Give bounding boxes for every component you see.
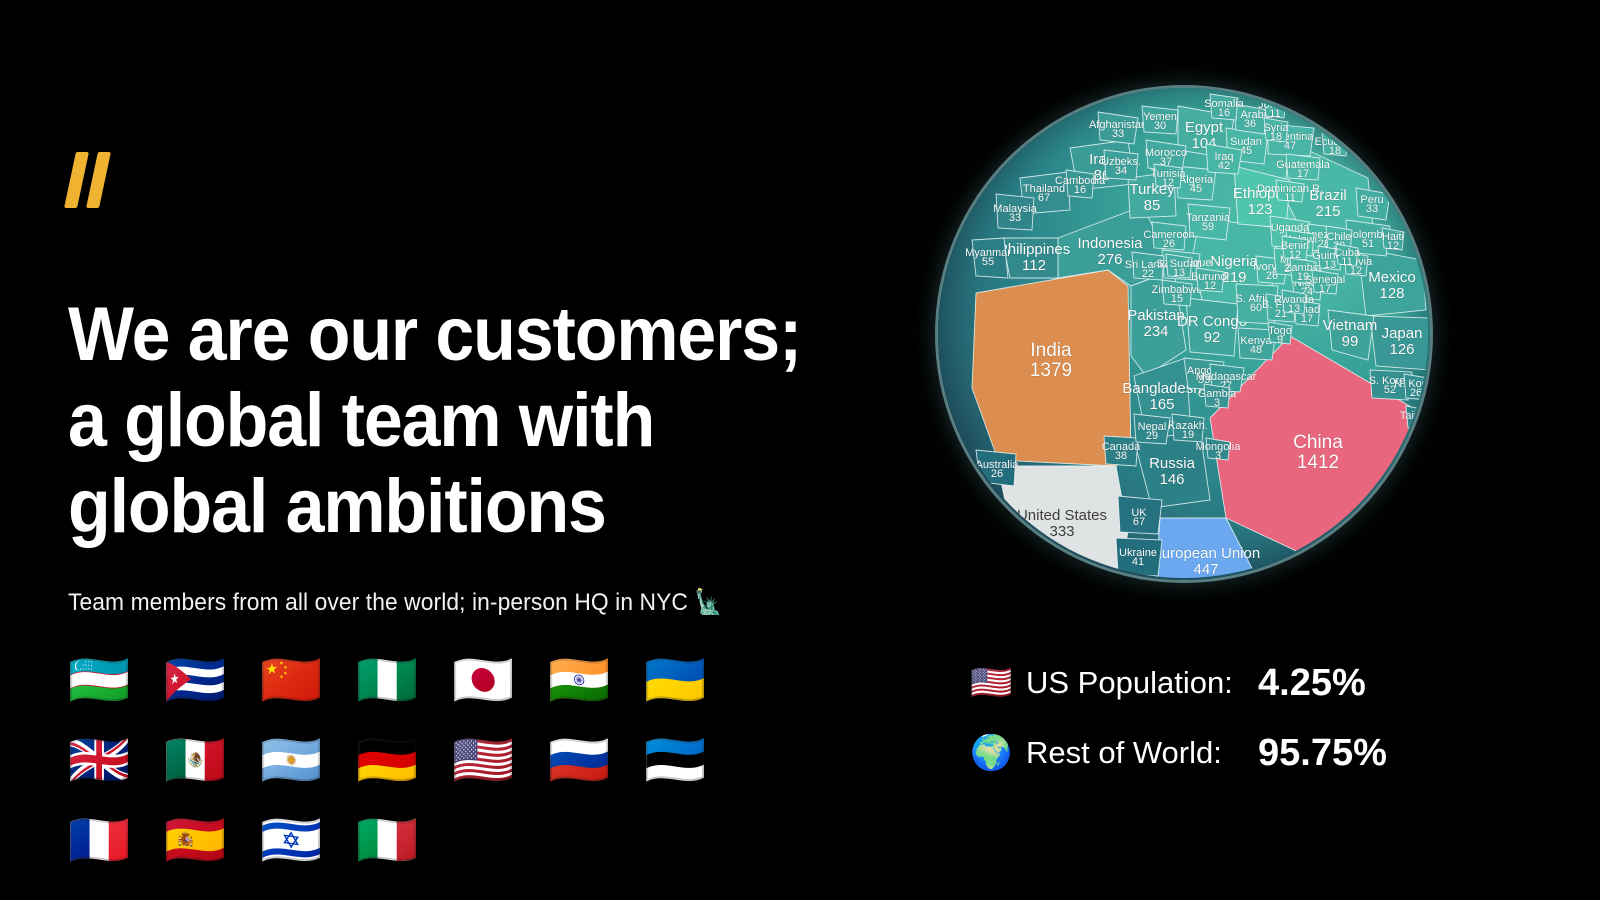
flag-spain-icon: 🇪🇸: [164, 800, 260, 880]
treemap-value-united-states: 333: [1049, 523, 1074, 540]
treemap-label-united-states: United States: [1017, 507, 1107, 524]
treemap-value-s-africa: 60: [1250, 302, 1262, 314]
flag-uzbekistan-icon: 🇺🇿: [68, 640, 164, 720]
rest-of-world-label: Rest of World:: [1026, 735, 1240, 771]
treemap-value-indonesia: 276: [1097, 251, 1122, 268]
treemap-value-china: 1412: [1297, 452, 1339, 473]
treemap-value-afghanistan: 33: [1112, 128, 1124, 140]
treemap-value-jordan: 11: [1269, 108, 1280, 120]
treemap-value-dr-congo: 92: [1204, 329, 1221, 346]
treemap-label-indonesia: Indonesia: [1077, 235, 1143, 252]
treemap-value-ecuador: 18: [1329, 145, 1341, 157]
treemap-value-guatemala: 17: [1297, 168, 1309, 180]
flag-israel-icon: 🇮🇱: [260, 800, 356, 880]
treemap-value-iraq: 42: [1218, 160, 1230, 172]
us-population-value: 4.25%: [1258, 662, 1366, 705]
treemap-value-bangladesh: 165: [1149, 396, 1174, 413]
stat-row-us-population: 🇺🇸 US Population: 4.25%: [970, 648, 1590, 718]
team-flag-grid: 🇺🇿 🇨🇺 🇨🇳 🇳🇬 🇯🇵 🇮🇳 🇺🇦 🇬🇧 🇲🇽 🇦🇷 🇩🇪 🇺🇸 🇷🇺 🇪…: [68, 640, 828, 880]
treemap-label-taiwan: Taiwan: [1400, 410, 1430, 422]
treemap-label-russia: Russia: [1149, 455, 1196, 472]
treemap-value-senegal: 17: [1319, 283, 1331, 295]
flag-cuba-icon: 🇨🇺: [164, 640, 260, 720]
treemap-value-russia: 146: [1159, 471, 1184, 488]
treemap-value-kazakh: 19: [1182, 429, 1194, 441]
treemap-value-cameroon: 26: [1163, 238, 1175, 250]
treemap-label-european-union: European Union: [1152, 545, 1260, 562]
flag-italy-icon: 🇮🇹: [356, 800, 452, 880]
flag-argentina-icon: 🇦🇷: [260, 720, 356, 800]
flag-row-1: 🇺🇿 🇨🇺 🇨🇳 🇳🇬 🇯🇵 🇮🇳 🇺🇦: [68, 640, 828, 720]
flag-china-icon: 🇨🇳: [260, 640, 356, 720]
treemap-value-tanzania: 59: [1202, 221, 1214, 233]
treemap-label-nigeria: Nigeria: [1210, 253, 1258, 270]
treemap-label-japan: Japan: [1382, 325, 1423, 342]
treemap-value-peru: 33: [1366, 203, 1378, 215]
us-population-label: US Population:: [1026, 665, 1240, 701]
treemap-value-algeria: 45: [1190, 183, 1202, 195]
treemap-value-thailand: 67: [1038, 192, 1050, 204]
slide-root: We are our customers; a global team with…: [0, 0, 1600, 900]
flag-united-kingdom-icon: 🇬🇧: [68, 720, 164, 800]
treemap-value-tunisia: 12: [1162, 177, 1174, 189]
treemap-value-uk: 67: [1133, 516, 1145, 528]
treemap-value-vietnam: 99: [1342, 333, 1359, 350]
flag-india-icon: 🇮🇳: [548, 640, 644, 720]
treemap-value-ukraine: 41: [1132, 556, 1144, 568]
treemap-value-turkey: 85: [1144, 197, 1161, 214]
treemap-value-somalia: 16: [1218, 107, 1230, 119]
flag-mexico-icon: 🇲🇽: [164, 720, 260, 800]
globe-icon: 🌍: [970, 736, 1026, 770]
treemap-value-india: 1379: [1030, 360, 1072, 381]
treemap-value-n-korea: 26: [1410, 387, 1422, 399]
flag-united-states-icon: 🇺🇸: [452, 720, 548, 800]
treemap-value-burundi: 12: [1204, 280, 1216, 292]
treemap-value-nepal: 29: [1146, 430, 1158, 442]
flag-russia-icon: 🇷🇺: [548, 720, 644, 800]
treemap-label-vietnam: Vietnam: [1323, 317, 1378, 334]
right-content-column: India1379China1412European Union447Unite…: [900, 0, 1600, 900]
treemap-value-zimbabwe: 15: [1171, 293, 1183, 305]
treemap-value-rwanda: 13: [1288, 303, 1300, 315]
treemap-value-cambodia: 16: [1074, 184, 1086, 196]
treemap-label-mexico: Mexico: [1368, 269, 1416, 286]
flag-united-states-icon: 🇺🇸: [970, 666, 1026, 700]
page-title: We are our customers; a global team with…: [68, 292, 822, 550]
flag-japan-icon: 🇯🇵: [452, 640, 548, 720]
treemap-label-dr-congo: DR Congo: [1177, 313, 1247, 330]
treemap-value-colombia: 51: [1362, 238, 1374, 250]
world-population-treemap: India1379China1412European Union447Unite…: [938, 88, 1430, 580]
brand-logo-icon: [68, 152, 138, 214]
rest-of-world-value: 95.75%: [1258, 732, 1387, 775]
treemap-value-mongolia: 3: [1215, 450, 1221, 462]
treemap-value-haiti: 12: [1387, 240, 1399, 252]
flag-row-3: 🇫🇷 🇪🇸 🇮🇱 🇮🇹: [68, 800, 828, 880]
treemap-globe-surface: India1379China1412European Union447Unite…: [938, 88, 1430, 580]
treemap-value-australia: 26: [991, 468, 1003, 480]
page-subtitle: Team members from all over the world; in…: [68, 588, 847, 617]
treemap-svg: India1379China1412European Union447Unite…: [938, 88, 1430, 580]
flag-nigeria-icon: 🇳🇬: [356, 640, 452, 720]
treemap-value-malaysia: 33: [1009, 212, 1021, 224]
population-stats: 🇺🇸 US Population: 4.25% 🌍 Rest of World:…: [970, 648, 1590, 788]
treemap-value-mexico: 128: [1379, 285, 1404, 302]
treemap-value-s-arabia: 36: [1244, 118, 1256, 130]
treemap-value-kenya: 48: [1250, 344, 1262, 356]
treemap-value-gambia: 3: [1214, 397, 1220, 409]
flag-france-icon: 🇫🇷: [68, 800, 164, 880]
treemap-value-myanmar: 55: [982, 256, 994, 268]
treemap-value-yemen: 30: [1154, 120, 1166, 132]
treemap-value-togo: 9: [1277, 334, 1283, 346]
treemap-value-taiwan: 24: [1411, 419, 1423, 431]
treemap-value-pakistan: 234: [1143, 323, 1168, 340]
treemap-value-benin: 12: [1289, 249, 1301, 261]
treemap-value-chad: 17: [1301, 313, 1313, 325]
flag-germany-icon: 🇩🇪: [356, 720, 452, 800]
logo-bar-2: [86, 152, 111, 208]
stat-row-rest-of-world: 🌍 Rest of World: 95.75%: [970, 718, 1590, 788]
logo-bar-1: [64, 152, 89, 208]
treemap-value-sri-lanka: 22: [1142, 268, 1154, 280]
treemap-value-philippines: 112: [1022, 257, 1046, 274]
left-content-column: We are our customers; a global team with…: [68, 0, 898, 900]
treemap-value-uzbeks: 34: [1115, 165, 1127, 177]
treemap-value-syria: 18: [1270, 131, 1282, 143]
treemap-value-canada: 38: [1115, 450, 1127, 462]
treemap-value-brazil: 215: [1315, 203, 1340, 220]
treemap-label-egypt: Egypt: [1185, 119, 1224, 136]
flag-estonia-icon: 🇪🇪: [644, 720, 740, 800]
treemap-label-india: India: [1030, 340, 1072, 361]
treemap-value-s-sudan: 13: [1173, 267, 1185, 279]
treemap-value-ethiopia: 123: [1247, 201, 1272, 218]
treemap-value-dominican-r: 11: [1284, 192, 1295, 204]
treemap-value-japan: 126: [1389, 341, 1414, 358]
treemap-value-european-union: 447: [1193, 561, 1218, 578]
treemap-label-china: China: [1293, 432, 1343, 453]
flag-row-2: 🇬🇧 🇲🇽 🇦🇷 🇩🇪 🇺🇸 🇷🇺 🇪🇪: [68, 720, 828, 800]
treemap-value-guinea: 13: [1324, 259, 1336, 271]
treemap-value-cuba: 11: [1341, 256, 1352, 268]
flag-ukraine-icon: 🇺🇦: [644, 640, 740, 720]
